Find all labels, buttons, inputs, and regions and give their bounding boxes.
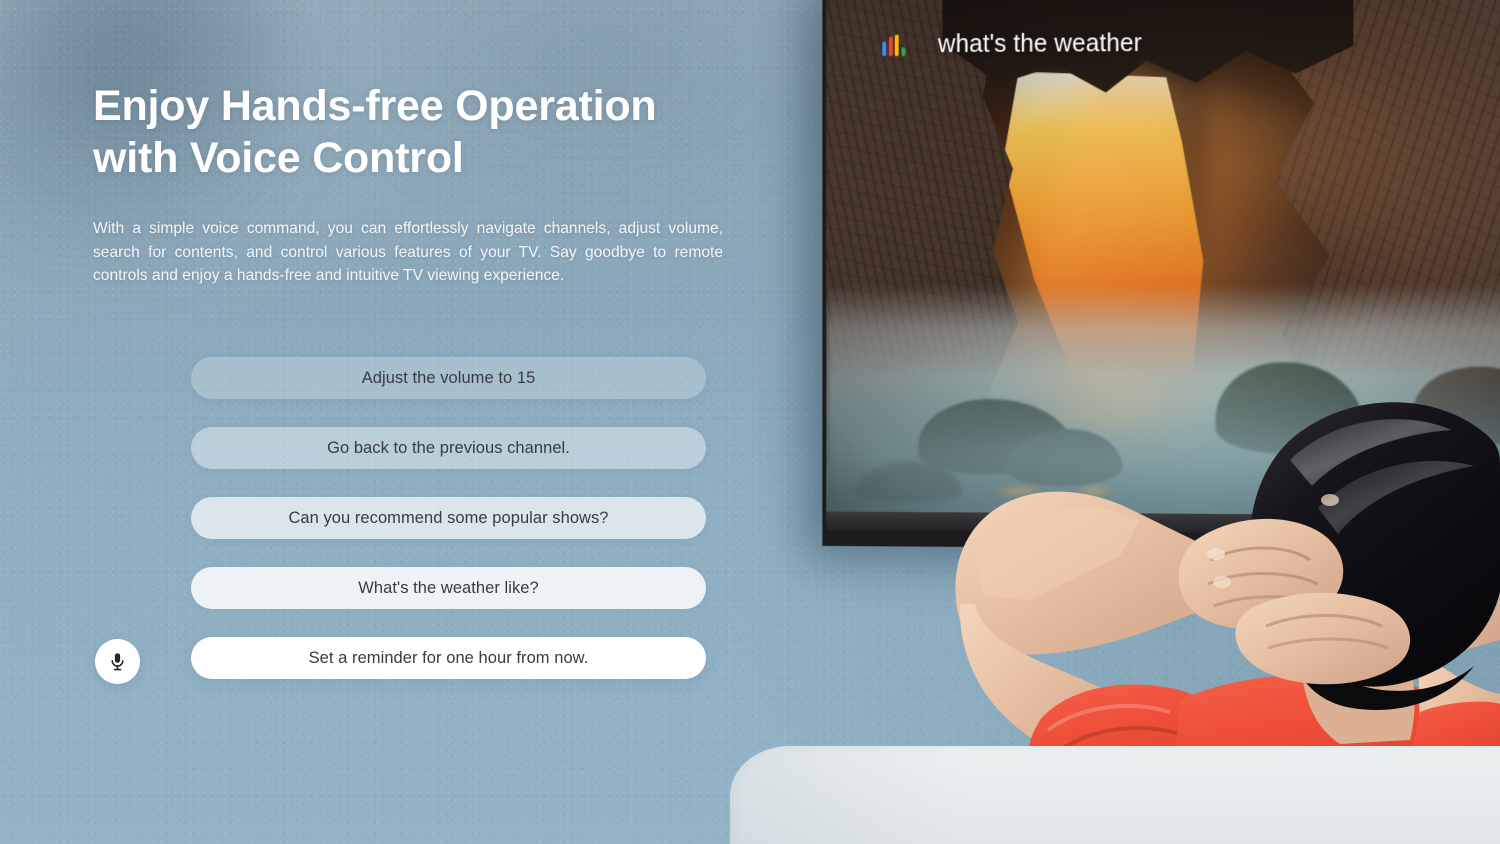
page-title: Enjoy Hands-free Operation with Voice Co… <box>93 80 733 185</box>
tv-screen-content-cave-scene <box>826 0 1500 535</box>
voice-command-label: Set a reminder for one hour from now. <box>309 649 589 668</box>
microphone-icon <box>107 651 128 672</box>
voice-command-list: Adjust the volume to 15 Go back to the p… <box>191 357 706 679</box>
description-paragraph: With a simple voice command, you can eff… <box>93 217 723 288</box>
voice-command-label: What's the weather like? <box>358 579 538 598</box>
assistant-query-text: what's the weather <box>938 29 1142 59</box>
voice-command-item-1[interactable]: Adjust the volume to 15 <box>191 357 706 399</box>
voice-command-item-2[interactable]: Go back to the previous channel. <box>191 427 706 469</box>
scene-vignette <box>826 0 1500 535</box>
voice-command-label: Go back to the previous channel. <box>327 439 570 458</box>
sofa-shading <box>730 746 1500 844</box>
assistant-query-overlay: what's the weather <box>882 29 1142 59</box>
voice-command-item-4[interactable]: What's the weather like? <box>191 567 706 609</box>
television: what's the weather KONKA <box>822 0 1500 551</box>
google-assistant-bars-icon <box>882 34 905 56</box>
tv-brand-logo: KONKA <box>1282 519 1318 529</box>
promo-content: Enjoy Hands-free Operation with Voice Co… <box>0 0 780 844</box>
tv-screen: what's the weather KONKA <box>826 0 1500 535</box>
headline-line-2: with Voice Control <box>93 134 464 182</box>
tv-bottom-bezel: KONKA <box>826 512 1500 535</box>
voice-command-label: Can you recommend some popular shows? <box>288 509 608 528</box>
voice-command-label: Adjust the volume to 15 <box>362 369 536 388</box>
voice-command-item-3[interactable]: Can you recommend some popular shows? <box>191 497 706 539</box>
promo-screenshot: what's the weather KONKA <box>0 0 1500 844</box>
microphone-button[interactable] <box>95 639 140 684</box>
voice-command-item-5[interactable]: Set a reminder for one hour from now. <box>191 637 706 679</box>
headline-line-1: Enjoy Hands-free Operation <box>93 82 656 130</box>
